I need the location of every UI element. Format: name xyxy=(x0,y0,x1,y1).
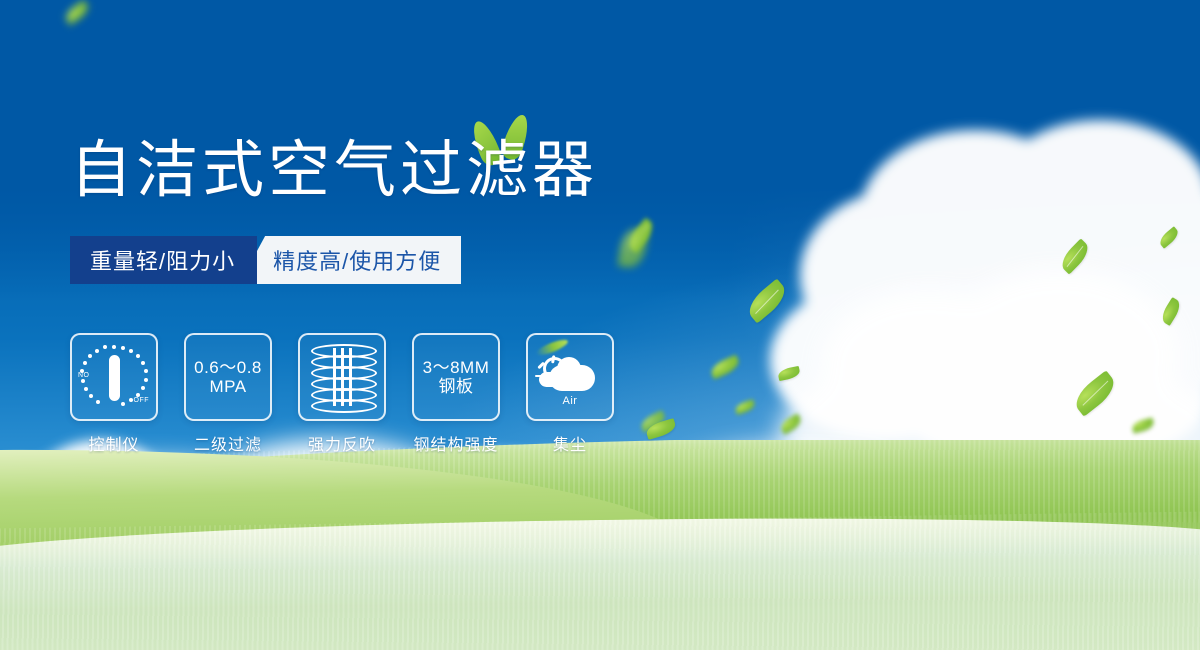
feature-item-steel-strength[interactable]: 3～8MM 钢板 钢结构强度 xyxy=(412,333,500,455)
page-title: 自洁式空气过滤器 xyxy=(70,140,598,202)
gauge-icon: NO OFF xyxy=(78,341,150,413)
grass-field xyxy=(0,440,1200,650)
air-cloud-icon: Air xyxy=(537,347,603,407)
feature-item-filtration[interactable]: 0.6～0.8 MPA 二级过滤 xyxy=(184,333,272,455)
gauge-on-label: NO xyxy=(78,372,90,379)
pressure-unit: MPA xyxy=(194,377,262,396)
steel-material: 钢板 xyxy=(423,377,490,396)
subtitle-right: 精度高/使用方便 xyxy=(239,236,461,284)
feature-item-controller[interactable]: NO OFF 控制仪 xyxy=(70,333,158,455)
grass-texture-near xyxy=(0,511,1200,650)
feature-item-dust-collection[interactable]: Air 集尘 xyxy=(526,333,614,455)
feature-label: 二级过滤 xyxy=(194,431,262,455)
feature-label: 强力反吹 xyxy=(308,431,376,455)
feature-item-blowback[interactable]: 强力反吹 xyxy=(298,333,386,455)
steel-plate-text-icon: 3～8MM 钢板 xyxy=(423,358,490,396)
feature-icon-box xyxy=(298,333,386,421)
feature-icon-box: NO OFF xyxy=(70,333,158,421)
feature-label: 控制仪 xyxy=(88,431,139,455)
hero-banner: 自洁式空气过滤器 重量轻/阻力小 精度高/使用方便 xyxy=(0,0,1200,650)
coil-blowback-icon xyxy=(311,344,373,410)
subtitle-left: 重量轻/阻力小 xyxy=(70,236,257,284)
feature-label: 集尘 xyxy=(553,431,587,455)
grass-near-field xyxy=(0,511,1200,650)
gauge-off-label: OFF xyxy=(134,397,150,404)
feature-label: 钢结构强度 xyxy=(413,431,498,455)
feature-icon-box: 3～8MM 钢板 xyxy=(412,333,500,421)
pressure-range: 0.6～0.8 xyxy=(194,358,262,377)
feature-icon-box: 0.6～0.8 MPA xyxy=(184,333,272,421)
feature-icon-box: Air xyxy=(526,333,614,421)
pressure-text-icon: 0.6～0.8 MPA xyxy=(194,358,262,396)
feature-list: NO OFF 控制仪 0.6～0.8 MPA 二级过滤 xyxy=(70,333,614,455)
air-label: Air xyxy=(537,395,603,407)
steel-thickness: 3～8MM xyxy=(423,358,490,377)
subtitle-bar: 重量轻/阻力小 精度高/使用方便 xyxy=(70,236,461,284)
